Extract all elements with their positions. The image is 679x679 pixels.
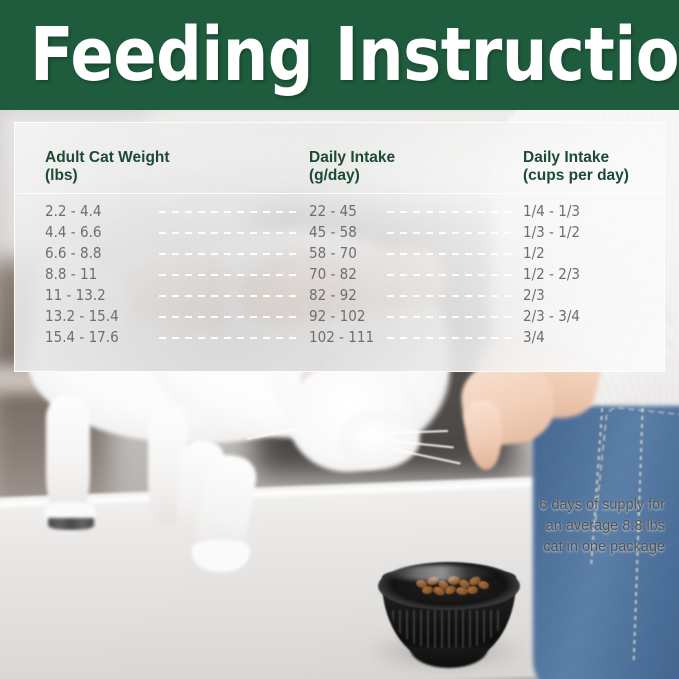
column-header-cups: Daily Intake (cups per day) [523,149,629,185]
header-banner: Feeding Instructions [0,0,679,110]
cell-grams: 102 - 111 [309,327,374,348]
cell-grams: 58 - 70 [309,243,357,264]
feeding-instructions-infographic: Feeding Instructions [0,0,679,679]
page-title: Feeding Instructions [30,13,679,97]
row-dashed-leader [159,295,299,297]
row-dashed-leader [159,253,299,255]
cell-weight: 15.4 - 17.6 [45,327,119,348]
cell-cups: 2/3 - 3/4 [523,306,580,327]
row-dashed-leader [387,253,513,255]
cell-cups: 2/3 [523,285,545,306]
row-dashed-leader [387,337,513,339]
cell-grams: 70 - 82 [309,264,357,285]
column-header-weight: Adult Cat Weight (lbs) [45,149,170,185]
cell-cups: 1/4 - 1/3 [523,201,580,222]
cell-weight: 6.6 - 8.8 [45,243,101,264]
cat-claws [48,518,94,530]
cell-weight: 8.8 - 11 [45,264,97,285]
cell-weight: 2.2 - 4.4 [45,201,101,222]
table-row: 13.2 - 15.492 - 1022/3 - 3/4 [15,306,665,327]
cell-grams: 92 - 102 [309,306,366,327]
cell-weight: 4.4 - 6.6 [45,222,101,243]
cell-weight: 11 - 13.2 [45,285,106,306]
column-header-grams: Daily Intake (g/day) [309,149,395,185]
row-dashed-leader [159,232,299,234]
cell-cups: 1/3 - 1/2 [523,222,580,243]
table-row: 2.2 - 4.422 - 451/4 - 1/3 [15,201,665,222]
cell-cups: 1/2 [523,243,545,264]
row-dashed-leader [159,337,299,339]
cell-cups: 3/4 [523,327,545,348]
row-dashed-leader [387,274,513,276]
row-dashed-leader [387,232,513,234]
supply-note: 6 days of supply for an average 8.8 lbs … [405,495,665,558]
table-row: 15.4 - 17.6102 - 1113/4 [15,327,665,348]
row-dashed-leader [387,316,513,318]
table-row: 8.8 - 1170 - 821/2 - 2/3 [15,264,665,285]
header-divider [15,193,665,194]
feeding-table-body: 2.2 - 4.422 - 451/4 - 1/34.4 - 6.645 - 5… [15,201,665,348]
feeding-table-card: Adult Cat Weight (lbs) Daily Intake (g/d… [14,122,665,372]
cell-cups: 1/2 - 2/3 [523,264,580,285]
bowl-rim-highlight [384,565,496,581]
row-dashed-leader [387,295,513,297]
table-row: 6.6 - 8.858 - 701/2 [15,243,665,264]
cell-grams: 22 - 45 [309,201,357,222]
cell-weight: 13.2 - 15.4 [45,306,119,327]
table-row: 4.4 - 6.645 - 581/3 - 1/2 [15,222,665,243]
row-dashed-leader [159,211,299,213]
table-row: 11 - 13.282 - 922/3 [15,285,665,306]
row-dashed-leader [159,316,299,318]
row-dashed-leader [159,274,299,276]
cell-grams: 82 - 92 [309,285,357,306]
row-dashed-leader [387,211,513,213]
cell-grams: 45 - 58 [309,222,357,243]
